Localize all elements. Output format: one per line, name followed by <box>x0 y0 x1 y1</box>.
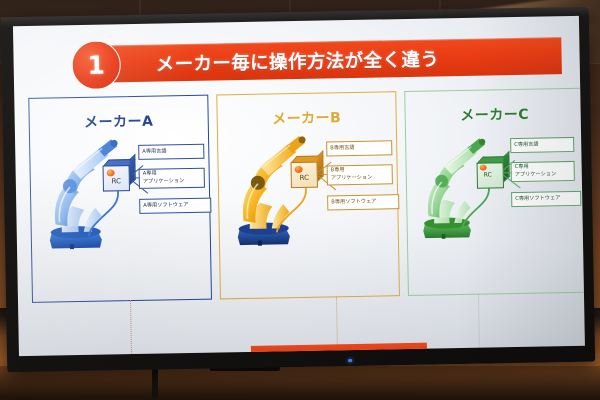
slide-header: メーカー毎に操作方法が全く違う 1 <box>13 32 580 90</box>
feature-label-box: B専用言語 <box>326 140 392 156</box>
feature-label-box: B専用 アプリケーション <box>327 164 393 185</box>
feature-label-box: A専用言語 <box>138 144 204 160</box>
robot-controller-cable-b <box>263 186 314 237</box>
robot-controller-cube-c: RC <box>476 156 505 185</box>
slide-number-badge: 1 <box>71 40 121 90</box>
panel-title-c: メーカーC <box>405 103 583 126</box>
maker-panel-a: メーカーA <box>28 95 212 303</box>
dashed-connector-c <box>478 294 480 352</box>
controller-label-c: RC <box>477 171 499 178</box>
feature-label-box: C専用言語 <box>510 137 574 153</box>
title-banner: メーカー毎に操作方法が全く違う <box>97 37 562 82</box>
tv-screen: メーカー毎に操作方法が全く違う 1 メーカーA <box>13 16 585 356</box>
feature-label-box: C専用ソフトウェア <box>511 191 581 207</box>
page-title: メーカー毎に操作方法が全く違う <box>155 45 439 76</box>
panel-title-b: メーカーB <box>218 106 396 129</box>
dashed-connector-c <box>425 352 481 354</box>
feature-label-box: C専用 アプリケーション <box>511 161 575 182</box>
robot-controller-cable-c <box>449 184 496 233</box>
feature-label-box: A専用 アプリケーション <box>139 168 205 189</box>
controller-label-a: RC <box>103 177 130 185</box>
maker-panel-c: メーカーC <box>404 88 585 296</box>
television: メーカー毎に操作方法が全く違う 1 メーカーA <box>1 7 595 373</box>
hardware-summary-text: ハードウェアはほぼ同じ <box>269 345 409 356</box>
dashed-connector-a <box>130 300 132 356</box>
slide-number: 1 <box>87 53 105 78</box>
robot-controller-cable-a <box>75 189 126 240</box>
power-led-indicator <box>348 359 352 362</box>
dashed-connector-b <box>336 296 338 346</box>
feature-label-box: A専用ソフトウェア <box>139 198 211 214</box>
hardware-summary-banner: ハードウェアはほぼ同じ <box>251 343 427 356</box>
controller-label-b: RC <box>291 174 318 182</box>
maker-panel-b: メーカーB <box>216 91 400 299</box>
panel-title-a: メーカーA <box>30 110 208 133</box>
room-scene: メーカー毎に操作方法が全く違う 1 メーカーA <box>0 0 600 400</box>
feature-label-box: B専用ソフトウェア <box>327 194 399 210</box>
floor-shadow <box>0 366 600 400</box>
controller-power-dot-icon <box>480 165 487 171</box>
